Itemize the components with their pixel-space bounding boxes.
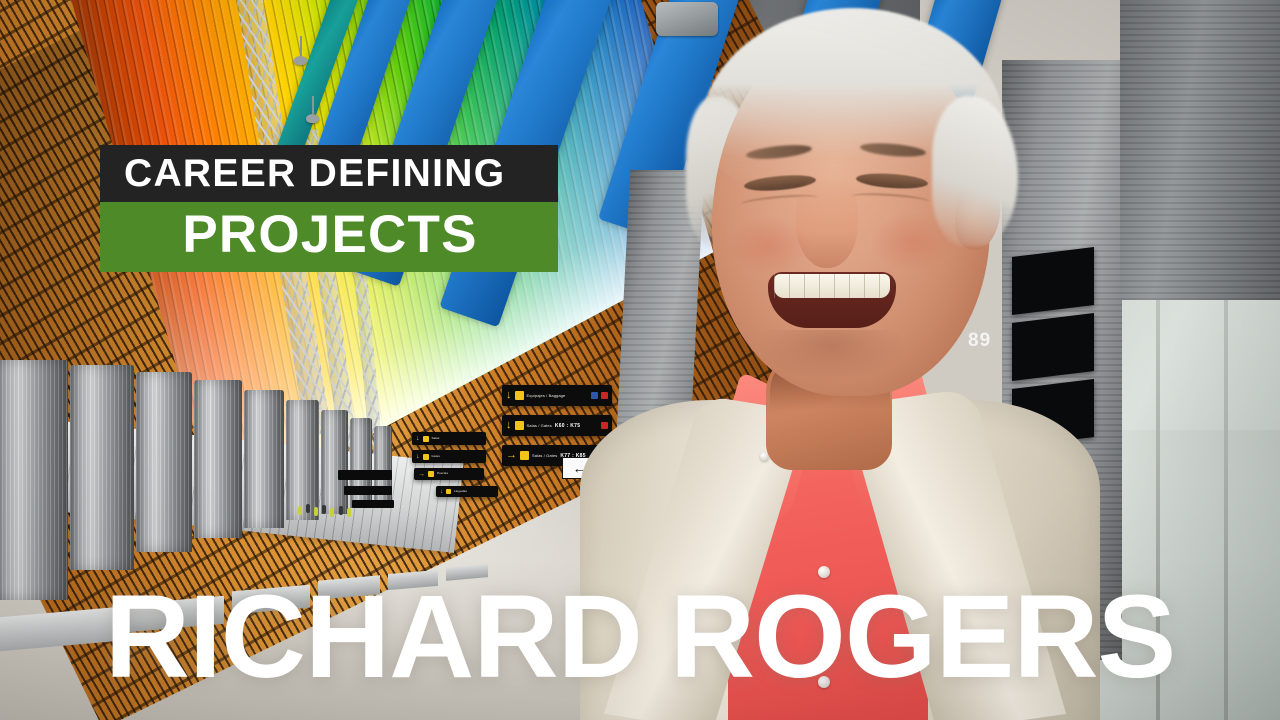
gate-pictogram-icon (520, 451, 529, 460)
sign-text: Puertas (437, 472, 448, 476)
lamp-stem (300, 36, 302, 56)
gate-pictogram-icon (428, 471, 434, 477)
distant-sign (352, 500, 394, 508)
sign-text: Gates (432, 455, 441, 459)
right-arrow-icon: → (418, 471, 425, 478)
gate-pictogram-icon (446, 489, 451, 494)
concrete-pier (1120, 0, 1280, 300)
sign-text: Salas (432, 437, 440, 441)
cheek-left (726, 216, 812, 276)
sign-text: Llegadas (454, 490, 467, 494)
subject-name-title: RICHARDROGERS (0, 578, 1280, 696)
career-defining-projects-badge: CAREER DEFINING PROJECTS (100, 145, 558, 272)
check-in-column (286, 400, 319, 520)
sign-text: Salas / Gates (527, 423, 552, 428)
badge-bottom-band: PROJECTS (100, 202, 558, 272)
check-in-column (194, 380, 242, 538)
person-silhouette (339, 506, 343, 515)
gate-pictogram-icon (423, 436, 429, 442)
gate-pictogram-icon (423, 454, 429, 460)
name-last: ROGERS (670, 571, 1175, 703)
gate-pictogram-icon (515, 421, 524, 430)
check-in-column (321, 410, 348, 514)
person-silhouette (347, 508, 351, 517)
cheek-right (870, 212, 956, 272)
distant-sign (338, 470, 392, 480)
person-silhouette (306, 504, 310, 513)
badge-top-band: CAREER DEFINING (100, 145, 558, 202)
check-in-column (136, 372, 192, 552)
wayfinding-sign-panel: ↓ Gates (412, 450, 486, 463)
wayfinding-sign-panel: ↓ Llegadas (436, 486, 498, 497)
youtube-thumbnail: ↓ Equipajes / Baggage ↓ Salas / Gates K6… (0, 0, 1280, 720)
down-arrow-icon: ↓ (416, 435, 420, 442)
badge-line-2: PROJECTS (124, 208, 536, 261)
down-arrow-icon: ↓ (506, 420, 512, 431)
down-arrow-icon: ↓ (440, 489, 443, 495)
down-arrow-icon: ↓ (506, 390, 512, 401)
wayfinding-sign-panel: ↓ Salas (412, 432, 486, 445)
chin-shadow (756, 330, 906, 382)
check-in-column (0, 360, 68, 600)
down-arrow-icon: ↓ (416, 453, 420, 460)
check-in-column (244, 390, 284, 528)
person-silhouette (314, 507, 318, 516)
name-first: RICHARD (105, 571, 642, 703)
person-silhouette (322, 505, 326, 514)
badge-line-1: CAREER DEFINING (124, 154, 536, 193)
wayfinding-sign-panel: → Puertas (414, 468, 484, 480)
baggage-pictogram-icon (515, 391, 524, 400)
right-arrow-icon: → (506, 450, 517, 461)
teeth (774, 274, 890, 298)
ceiling-lamp (294, 56, 307, 65)
check-in-column (70, 365, 134, 570)
lamp-stem (312, 96, 314, 114)
person-silhouette (298, 506, 302, 515)
sign-text: Salas / Gates (532, 453, 557, 458)
person-silhouette (330, 508, 334, 517)
pier-texture (1120, 0, 1280, 300)
teeth-separations (774, 274, 890, 298)
ceiling-lamp (306, 114, 319, 123)
distant-sign (344, 486, 392, 495)
